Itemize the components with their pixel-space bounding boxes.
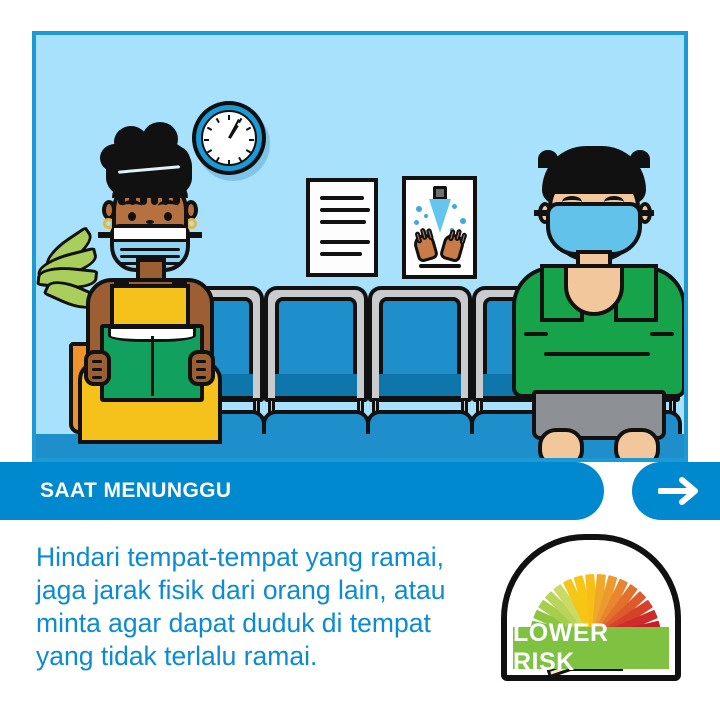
body-line-1: Hindari tempat-tempat yang ramai, bbox=[36, 541, 506, 574]
arrow-right-icon bbox=[658, 477, 704, 505]
body-line-3: minta agar dapat duduk di tempat bbox=[36, 607, 506, 640]
section-banner: SAAT MENUNGGU bbox=[0, 462, 604, 520]
risk-badge: LOWER RISK bbox=[501, 534, 681, 681]
handwashing-poster bbox=[402, 176, 477, 279]
man-seated bbox=[504, 146, 684, 446]
infographic-card: SAAT MENUNGGU Hindari tempat-tempat yang… bbox=[0, 0, 720, 720]
page-title: SAAT MENUNGGU bbox=[40, 462, 231, 520]
body-line-2: jaga jarak fisik dari orang lain, atau bbox=[36, 574, 506, 607]
body-text: Hindari tempat-tempat yang ramai, jaga j… bbox=[36, 541, 506, 673]
waiting-room-illustration bbox=[32, 31, 688, 462]
face-mask bbox=[546, 202, 642, 256]
risk-label: LOWER RISK bbox=[513, 627, 669, 669]
text-poster bbox=[306, 178, 378, 277]
next-button[interactable] bbox=[632, 462, 720, 520]
body-line-4: yang tidak terlalu ramai. bbox=[36, 640, 506, 673]
woman-reading-book bbox=[70, 138, 230, 438]
